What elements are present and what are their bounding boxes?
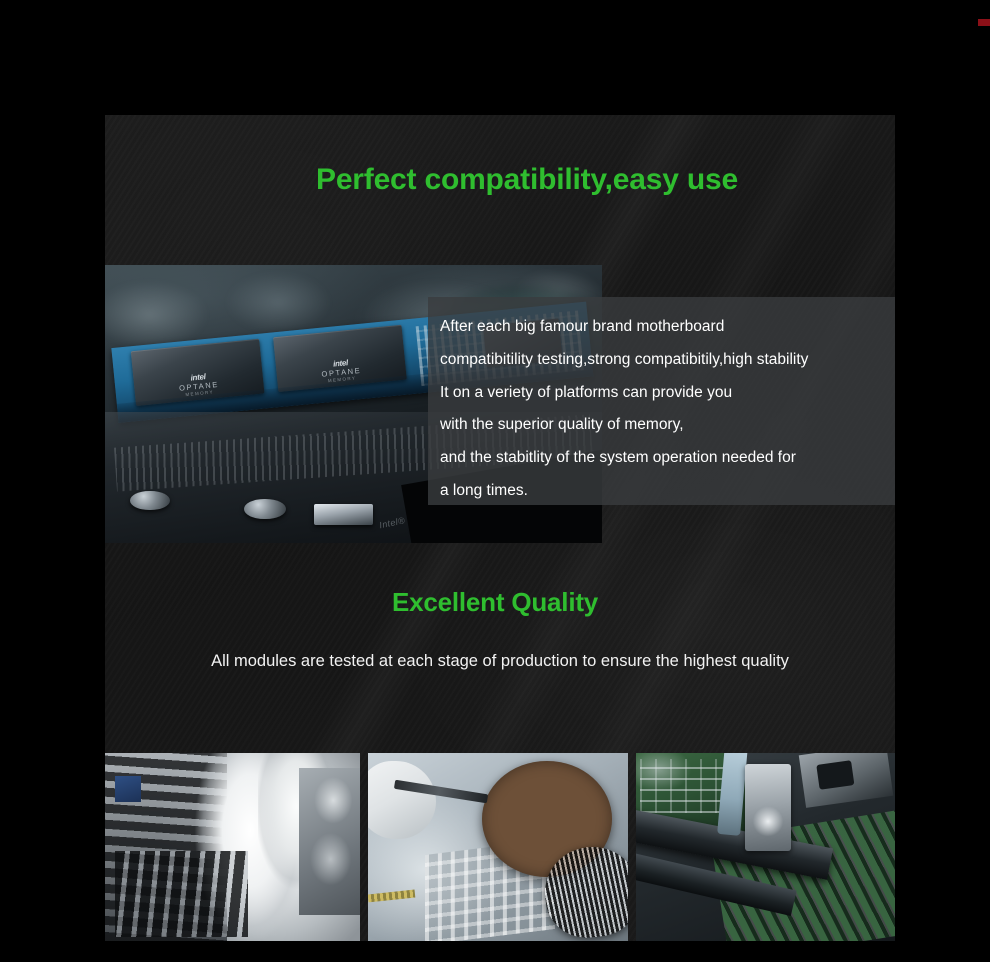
quality-photo-strip — [105, 753, 895, 941]
product-description-panel: Perfect compatibility,easy use intel OPT… — [105, 115, 895, 941]
optane-chip-1: intel OPTANE MEMORY — [131, 339, 265, 407]
copy-line-1: After each big famour brand motherboard — [440, 311, 893, 344]
capacitor-1 — [130, 491, 170, 511]
copy-line-6: a long times. — [440, 475, 893, 508]
socket-1 — [314, 504, 374, 525]
capacitor-2 — [244, 499, 286, 520]
silicon-wafer-handling-photo — [368, 753, 628, 941]
smt-assembly-line-photo — [636, 753, 895, 941]
microscope-row — [115, 851, 248, 937]
compatibility-copy-text: After each big famour brand motherboard … — [440, 311, 893, 508]
cleanroom-equipment — [299, 768, 360, 915]
pick-and-place-nozzle — [745, 764, 792, 850]
quality-tagline: All modules are tested at each stage of … — [115, 652, 885, 671]
cleanroom-inspection-photo — [105, 753, 360, 941]
copy-line-2: compatibitility testing,strong compatibi… — [440, 344, 893, 377]
copy-line-3: It on a veriety of platforms can provide… — [440, 377, 893, 410]
copy-line-4: with the superior quality of memory, — [440, 409, 893, 442]
compatibility-copy-overlay: After each big famour brand motherboard … — [428, 297, 895, 505]
red-edge-artifact — [978, 19, 990, 26]
blue-tray — [115, 776, 141, 802]
copy-line-5: and the stabitlity of the system operati… — [440, 442, 893, 475]
quality-heading: Excellent Quality — [235, 587, 755, 618]
optane-chip-2: intel OPTANE MEMORY — [273, 325, 407, 393]
compatibility-heading: Perfect compatibility,easy use — [267, 163, 787, 197]
